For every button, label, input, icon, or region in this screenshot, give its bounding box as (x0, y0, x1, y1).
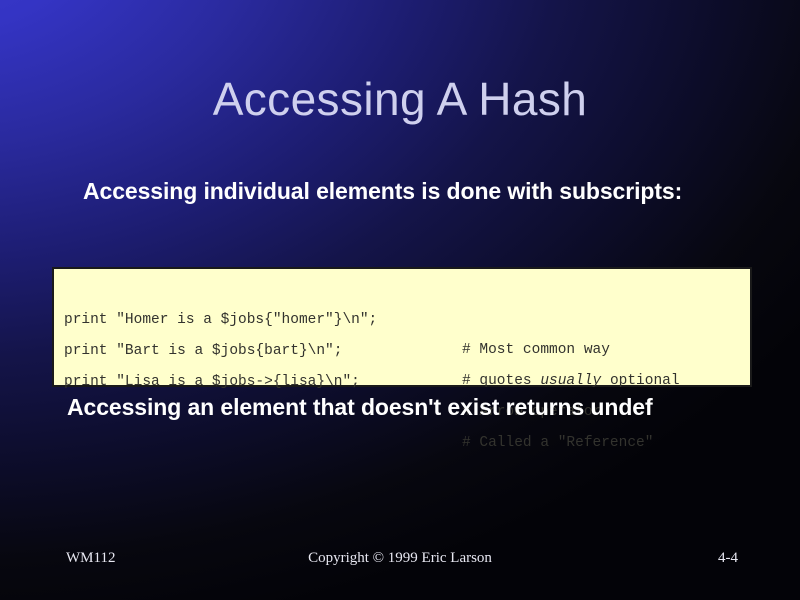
page-title: Accessing A Hash (0, 74, 800, 125)
slide-canvas: Accessing A Hash Accessing individual el… (0, 0, 800, 600)
subtitle-text: Accessing individual elements is done wi… (83, 178, 682, 205)
footer-page-number: 4-4 (718, 550, 738, 567)
code-row: print "Lisa is a $jobs->{lisa}\n"; # Arr… (54, 337, 750, 367)
footer-copyright: Copyright © 1999 Eric Larson (0, 550, 800, 567)
code-row: print "Homer is a $jobs{"homer"}\n"; # M… (54, 275, 750, 305)
body-note-text: Accessing an element that doesn't exist … (67, 394, 653, 421)
code-block: print "Homer is a $jobs{"homer"}\n"; # M… (52, 267, 752, 387)
slide-footer: WM112 Copyright © 1999 Eric Larson 4-4 (0, 550, 800, 572)
code-row: print "Bart is a $jobs{bart}\n"; # quote… (54, 306, 750, 336)
code-comment: # Called a "Reference" (462, 428, 653, 458)
comment-prefix: # Called a "Reference" (462, 435, 653, 451)
